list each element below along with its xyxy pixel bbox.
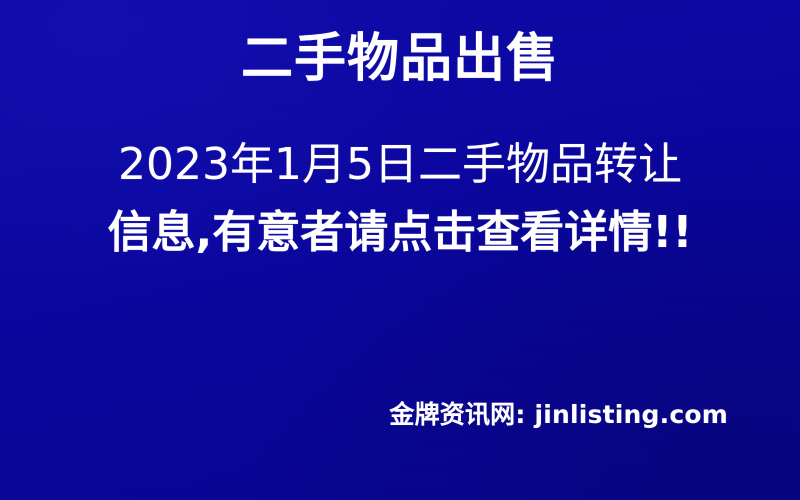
banner-footer: 金牌资讯网: jinlisting.com [0,400,800,430]
banner-body-line-1: 2023年1月5日二手物品转让 [0,131,800,199]
promo-banner: 二手物品出售 2023年1月5日二手物品转让 信息,有意者请点击查看详情!! 金… [0,0,800,500]
banner-body-line-2: 信息,有意者请点击查看详情!! [0,199,800,267]
banner-headline: 二手物品出售 [0,28,800,90]
site-attribution: 金牌资讯网: jinlisting.com [389,400,728,429]
banner-body: 2023年1月5日二手物品转让 信息,有意者请点击查看详情!! [0,131,800,267]
